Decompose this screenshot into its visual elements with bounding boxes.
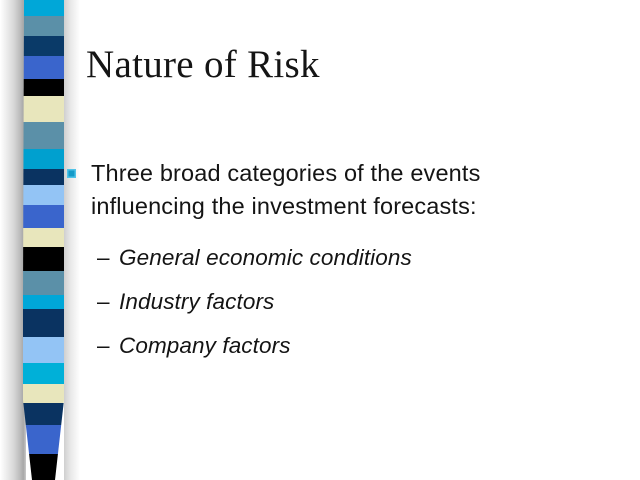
sub-bullet-label: Industry factors <box>119 289 274 314</box>
bullet-primary-line1: Three broad categories of the events <box>91 157 606 190</box>
bullet-item-primary: Three broad categories of the events inf… <box>66 157 606 223</box>
page-title: Nature of Risk <box>86 44 586 87</box>
slide-canvas: Nature of Risk Three broad categories of… <box>0 0 640 480</box>
slide-body: Three broad categories of the events inf… <box>66 157 606 368</box>
square-bullet-icon <box>67 169 76 178</box>
sub-bullet-list: – General economic conditions – Industry… <box>66 236 606 368</box>
sub-bullet-label: General economic conditions <box>119 245 412 270</box>
dash-bullet-icon: – <box>97 324 110 368</box>
dash-bullet-icon: – <box>97 236 110 280</box>
bullet-primary-line2: influencing the investment forecasts: <box>91 190 606 223</box>
sub-bullet-label: Company factors <box>119 333 291 358</box>
list-item: – Industry factors <box>66 280 606 324</box>
list-item: – Company factors <box>66 324 606 368</box>
dash-bullet-icon: – <box>97 280 110 324</box>
color-bar-shadow <box>0 0 26 480</box>
list-item: – General economic conditions <box>66 236 606 280</box>
